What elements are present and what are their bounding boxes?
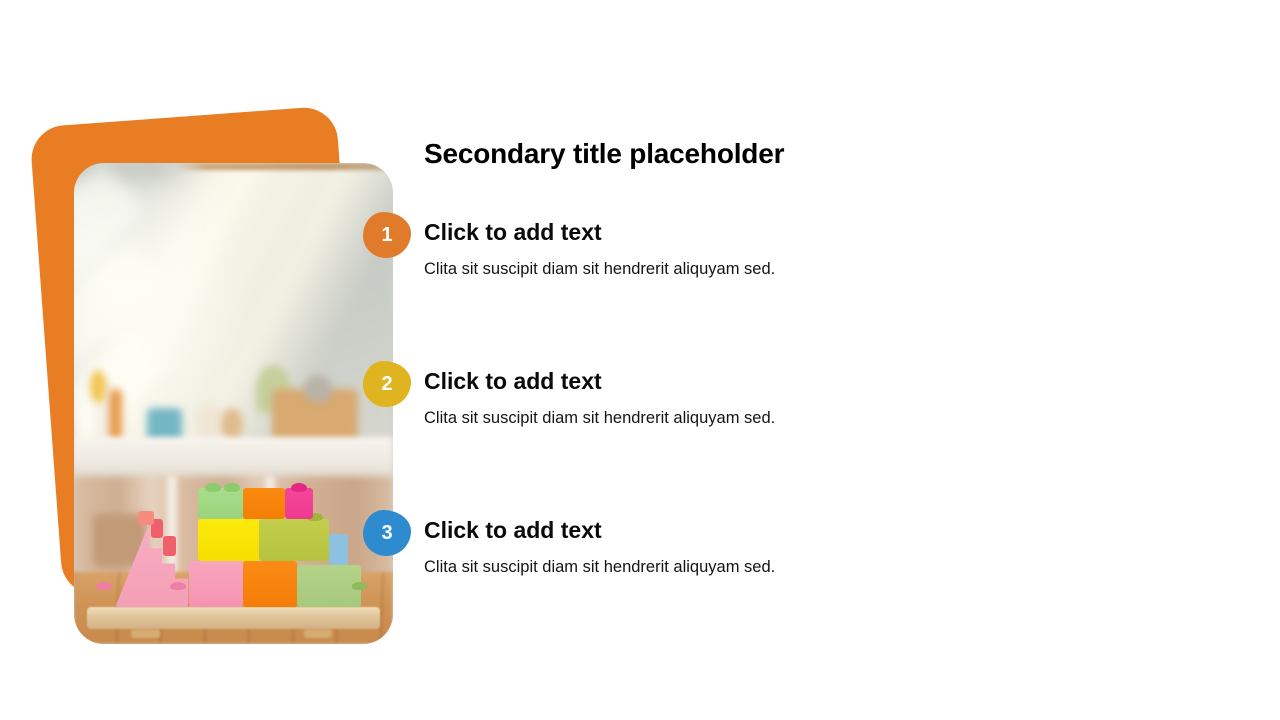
block-olive-middle <box>259 519 329 561</box>
tray-foot-right <box>304 629 333 639</box>
block-lightgreen-top <box>198 488 243 519</box>
list-item-2: Click to add text Clita sit suscipit dia… <box>424 369 944 430</box>
list-item-2-body[interactable]: Clita sit suscipit diam sit hendrerit al… <box>424 408 944 429</box>
photo-shelf-object-yellow <box>90 370 106 404</box>
wooden-tray <box>87 607 380 628</box>
slide-canvas: 1 2 3 Secondary title placeholder Click … <box>0 0 1280 720</box>
photo-shelf-object-orange <box>109 389 122 442</box>
block-coral-top <box>138 511 154 524</box>
tray-foot-left <box>131 629 160 639</box>
photo-ceiling-trim <box>176 163 393 170</box>
block-magenta-top <box>285 488 314 519</box>
block-stud-lightgreen-b <box>224 483 240 492</box>
list-item-1-body[interactable]: Clita sit suscipit diam sit hendrerit al… <box>424 259 944 280</box>
list-item-1-title[interactable]: Click to add text <box>424 220 944 245</box>
block-orange-bottom <box>243 561 297 607</box>
playroom-photo <box>74 163 393 644</box>
step-badge-3-number: 3 <box>381 523 392 543</box>
block-blue-peek <box>329 534 348 565</box>
list-item-3-body[interactable]: Clita sit suscipit diam sit hendrerit al… <box>424 557 944 578</box>
list-item-3: Click to add text Clita sit suscipit dia… <box>424 518 944 579</box>
block-stud-magenta <box>291 483 307 492</box>
list-item-3-title[interactable]: Click to add text <box>424 518 944 543</box>
block-orange-top <box>243 488 284 519</box>
step-badge-2-number: 2 <box>381 374 392 394</box>
block-stud-green-bottom <box>352 582 368 590</box>
toy-blocks-group <box>74 452 393 644</box>
visual-group <box>0 0 430 720</box>
content-column: Secondary title placeholder Click to add… <box>424 0 1224 720</box>
block-stud-lightgreen-a <box>205 483 221 492</box>
block-red-step-1 <box>163 536 176 555</box>
list-item-2-title[interactable]: Click to add text <box>424 369 944 394</box>
photo-frame[interactable] <box>74 163 393 644</box>
list-item-1: Click to add text Clita sit suscipit dia… <box>424 220 944 281</box>
step-badge-1-number: 1 <box>381 225 392 245</box>
block-stud-pink-mid <box>170 582 186 590</box>
block-pink-bottom <box>189 561 243 607</box>
page-title[interactable]: Secondary title placeholder <box>424 138 784 170</box>
block-stud-pink-left <box>96 582 112 590</box>
block-yellow-middle <box>198 519 259 561</box>
